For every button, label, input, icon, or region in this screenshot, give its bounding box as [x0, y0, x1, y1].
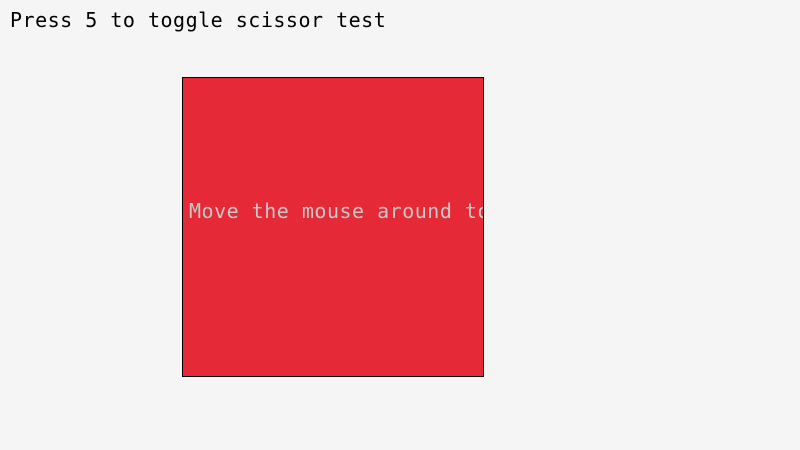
hint-text: Press 5 to toggle scissor test	[10, 8, 386, 32]
scissor-clip-region: Move the mouse around to reveal the text	[183, 78, 483, 376]
scissor-test-canvas[interactable]: Press 5 to toggle scissor test Move the …	[0, 0, 800, 450]
scissor-rectangle: Move the mouse around to reveal the text	[182, 77, 484, 377]
clipped-message-text: Move the mouse around to reveal the text	[189, 199, 483, 223]
